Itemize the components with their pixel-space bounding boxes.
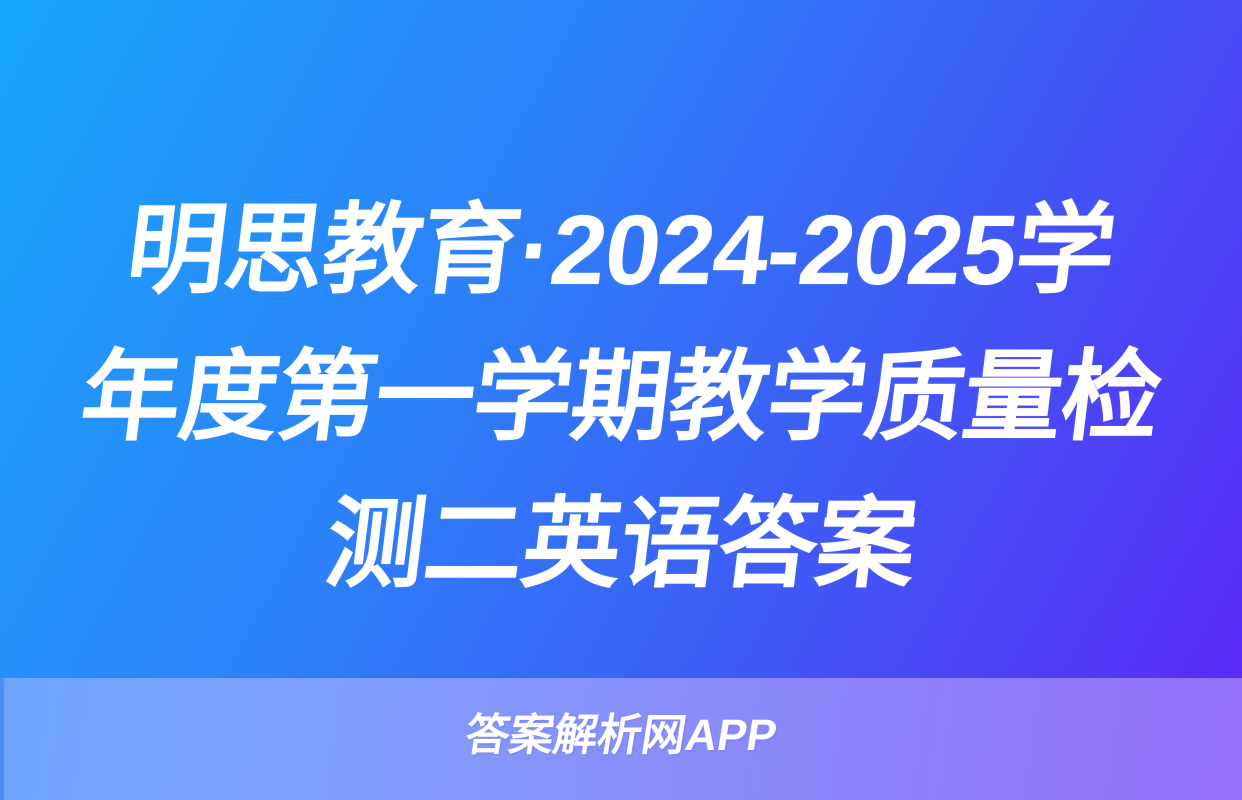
page-title-line-2: 年度第一学期教学质量检 (0, 323, 1242, 470)
exam-answer-banner: 明思教育·2024-2025学 年度第一学期教学质量检 测二英语答案 答案解析网… (0, 0, 1242, 800)
page-title: 明思教育·2024-2025学 年度第一学期教学质量检 测二英语答案 (0, 176, 1242, 617)
app-watermark-label: 答案解析网APP (0, 708, 1242, 764)
page-title-line-1: 明思教育·2024-2025学 (0, 176, 1242, 323)
page-title-line-3: 测二英语答案 (0, 470, 1242, 617)
